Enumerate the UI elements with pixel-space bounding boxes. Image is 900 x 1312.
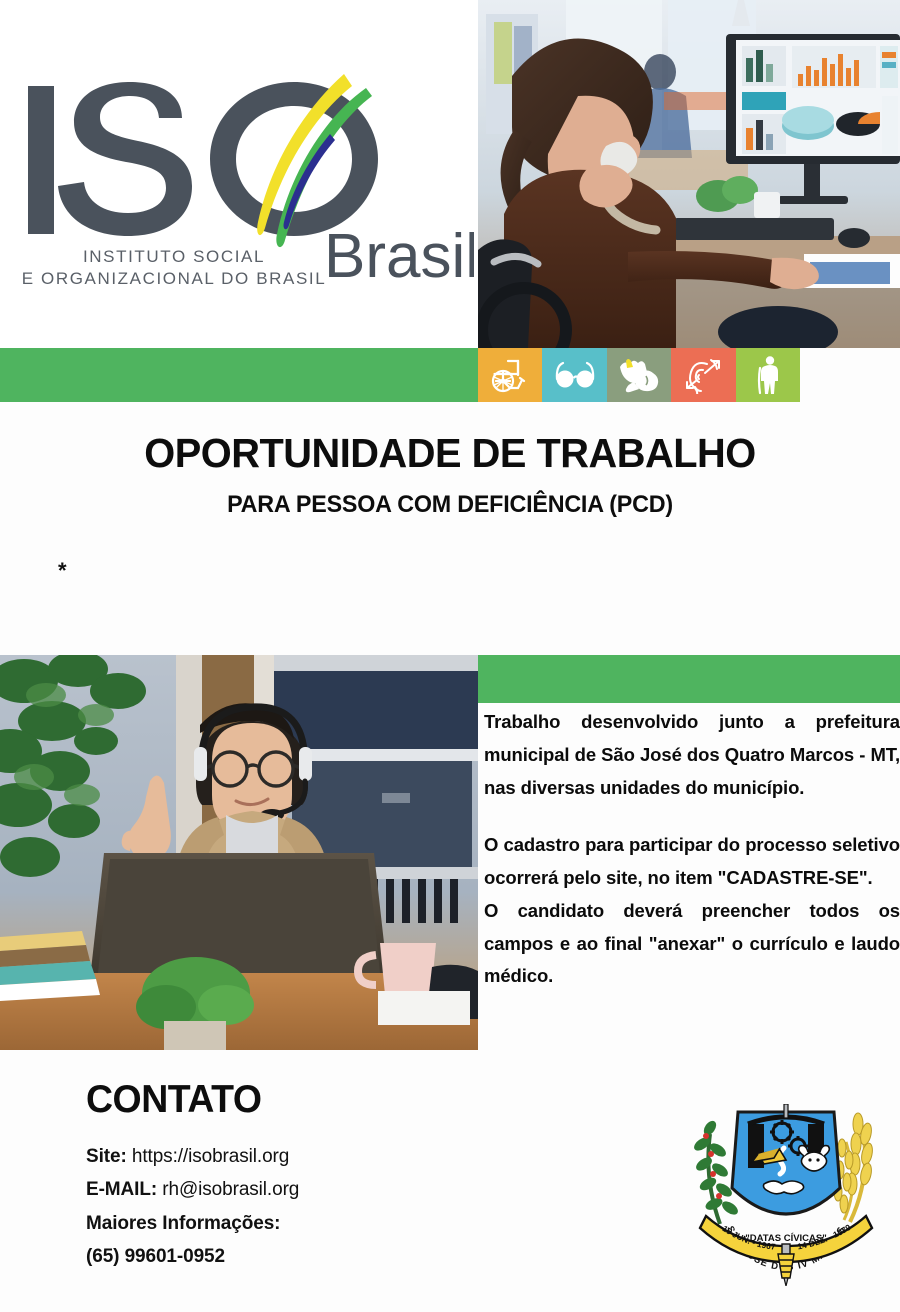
headline-block: OPORTUNIDADE DE TRABALHO PARA PESSOA COM… bbox=[0, 430, 900, 519]
page-subtitle: PARA PESSOA COM DEFICIÊNCIA (PCD) bbox=[14, 491, 887, 519]
contact-info-label: Maiores Informações: bbox=[86, 1207, 466, 1240]
wheat-branch bbox=[834, 1113, 874, 1222]
person-cane-icon bbox=[753, 355, 783, 395]
green-divider-bar bbox=[0, 348, 478, 402]
body-paragraph-2: O cadastro para participar do processo s… bbox=[484, 829, 900, 895]
logo-tagline-line1: INSTITUTO SOCIAL bbox=[83, 247, 265, 266]
hero-photo bbox=[478, 0, 900, 348]
mid-photo bbox=[0, 655, 478, 1050]
body-paragraph-3: O candidato deverá preencher todos os ca… bbox=[484, 895, 900, 994]
contact-site-value[interactable]: https://isobrasil.org bbox=[132, 1146, 289, 1167]
iso-brasil-logo: INSTITUTO SOCIAL E ORGANIZACIONAL DO BRA… bbox=[14, 72, 474, 307]
hero-photo-svg bbox=[478, 0, 900, 348]
municipal-seal: SAO JOSE DOS IV MARCOS "DATAS CÍVICAS" 1… bbox=[686, 1104, 886, 1286]
person-cane-icon-cell bbox=[736, 348, 800, 402]
sign-language-icon-cell bbox=[607, 348, 671, 402]
logo-brasil-text: Brasil bbox=[324, 222, 474, 291]
sign-language-icon bbox=[616, 357, 662, 393]
contact-email-row: E-MAIL: rh@isobrasil.org bbox=[86, 1173, 466, 1206]
green-strip-right bbox=[478, 655, 900, 703]
ear-icon-cell bbox=[671, 348, 735, 402]
contact-email-label: E-MAIL: bbox=[86, 1179, 157, 1200]
page-title: OPORTUNIDADE DE TRABALHO bbox=[14, 430, 887, 477]
body-paragraph-1: Trabalho desenvolvido junto a prefeitura… bbox=[484, 706, 900, 805]
accessibility-icon-strip bbox=[478, 348, 800, 402]
contact-email-value[interactable]: rh@isobrasil.org bbox=[162, 1179, 299, 1200]
body-text-block: Trabalho desenvolvido junto a prefeitura… bbox=[484, 706, 900, 993]
logo-svg: INSTITUTO SOCIAL E ORGANIZACIONAL DO BRA… bbox=[14, 72, 474, 307]
poster-root: INSTITUTO SOCIAL E ORGANIZACIONAL DO BRA… bbox=[0, 0, 900, 1312]
contact-phone-value[interactable]: (65) 99601-0952 bbox=[86, 1240, 466, 1273]
municipal-seal-svg: SAO JOSE DOS IV MARCOS "DATAS CÍVICAS" 1… bbox=[686, 1104, 886, 1286]
contact-details: Site: https://isobrasil.org E-MAIL: rh@i… bbox=[86, 1140, 466, 1273]
logo-tagline-line2: E ORGANIZACIONAL DO BRASIL bbox=[22, 269, 327, 288]
contact-title: CONTATO bbox=[86, 1078, 262, 1122]
asterisk-marker: * bbox=[58, 560, 67, 582]
mid-photo-svg bbox=[0, 655, 478, 1050]
ear-icon bbox=[681, 356, 725, 394]
logo-area: INSTITUTO SOCIAL E ORGANIZACIONAL DO BRA… bbox=[0, 0, 478, 348]
glasses-icon bbox=[552, 358, 598, 392]
contact-site-label: Site: bbox=[86, 1146, 127, 1167]
glasses-icon-cell bbox=[542, 348, 606, 402]
top-band: INSTITUTO SOCIAL E ORGANIZACIONAL DO BRA… bbox=[0, 0, 900, 348]
contact-site-row: Site: https://isobrasil.org bbox=[86, 1140, 466, 1173]
wheelchair-icon-cell bbox=[478, 348, 542, 402]
wheelchair-icon bbox=[490, 356, 530, 394]
